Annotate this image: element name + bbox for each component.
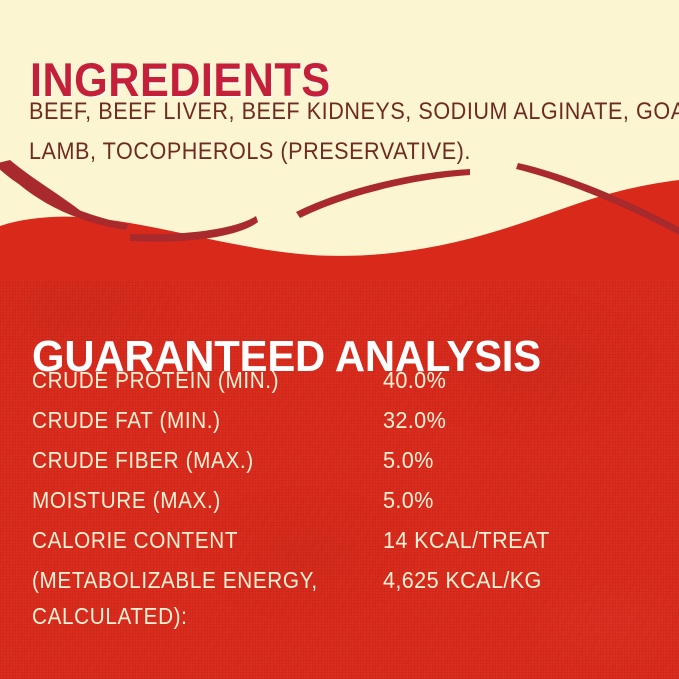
table-row: CRUDE FAT (MIN.) 32.0% [32, 402, 632, 442]
nutrient-value: 4,625 KCAL/KG [383, 562, 542, 598]
nutrient-value: 14 KCAL/TREAT [383, 522, 550, 558]
ingredients-line: BEEF, BEEF LIVER, BEEF KIDNEYS, SODIUM A… [29, 92, 587, 132]
pet-food-label-panel: INGREDIENTS BEEF, BEEF LIVER, BEEF KIDNE… [0, 0, 679, 679]
table-row: (METABOLIZABLE ENERGY, CALCULATED): 4,62… [32, 562, 632, 634]
guaranteed-analysis-table: CRUDE PROTEIN (MIN.) 40.0% CRUDE FAT (MI… [32, 362, 632, 634]
ingredients-text: BEEF, BEEF LIVER, BEEF KIDNEYS, SODIUM A… [29, 92, 587, 172]
nutrient-value: 32.0% [383, 402, 446, 438]
nutrient-value: 5.0% [383, 442, 434, 478]
ingredients-line: LAMB, TOCOPHEROLS (PRESERVATIVE). [29, 132, 587, 172]
table-row: MOISTURE (MAX.) 5.0% [32, 482, 632, 522]
table-row: CRUDE PROTEIN (MIN.) 40.0% [32, 362, 632, 402]
nutrient-label: CRUDE FIBER (MAX.) [32, 442, 254, 478]
nutrient-value: 5.0% [383, 482, 434, 518]
table-row: CALORIE CONTENT 14 KCAL/TREAT [32, 522, 632, 562]
nutrient-label: (METABOLIZABLE ENERGY, CALCULATED): [32, 562, 318, 634]
nutrient-label: CRUDE FAT (MIN.) [32, 402, 221, 438]
nutrient-label: MOISTURE (MAX.) [32, 482, 221, 518]
nutrient-label: CRUDE PROTEIN (MIN.) [32, 362, 279, 398]
table-row: CRUDE FIBER (MAX.) 5.0% [32, 442, 632, 482]
nutrient-label: CALORIE CONTENT [32, 522, 238, 558]
nutrient-value: 40.0% [383, 362, 446, 398]
